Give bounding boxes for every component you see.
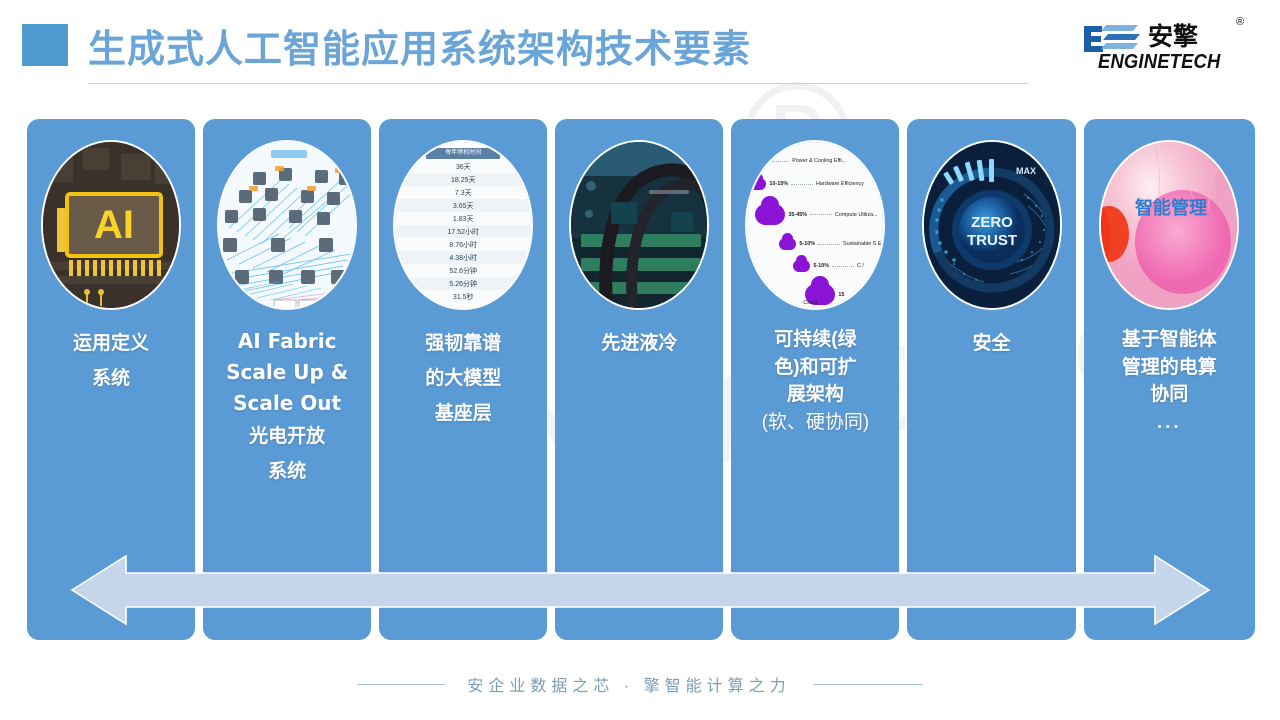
table-row: 7.3天 bbox=[395, 186, 531, 199]
card-operation-definition[interactable]: AI bbox=[27, 119, 195, 640]
ai-chip-label: AI bbox=[94, 203, 134, 247]
card-1-line-2: 系统 bbox=[35, 361, 187, 396]
card-2-line-1: AI Fabric bbox=[211, 326, 363, 357]
chart-item: 5-10% C / bbox=[793, 260, 863, 272]
zero-trust-label-line1: ZERO bbox=[971, 214, 1013, 231]
table-row: 17.52小时 bbox=[395, 225, 531, 238]
liquid-cooling-photo bbox=[569, 140, 709, 310]
logo-registered-icon: ® bbox=[1236, 16, 1244, 28]
card-3-line-1: 强韧靠谱 bbox=[387, 326, 539, 361]
table-row: 36天 bbox=[395, 160, 531, 173]
card-2-line-2: Scale Up & bbox=[211, 357, 363, 388]
chart-item-pct: 10-15% bbox=[769, 181, 788, 187]
footer-rule-left bbox=[357, 684, 445, 685]
card-2-line-5: 系统 bbox=[211, 454, 363, 489]
table-row: 8.76小时 bbox=[395, 238, 531, 251]
cloud-efficiency-chart: 20% Power & Cooling Effi... 10-15% Hardw… bbox=[745, 140, 885, 310]
card-advanced-liquid-cooling[interactable]: 先进液冷 bbox=[555, 119, 723, 640]
card-2-label: AI Fabric Scale Up & Scale Out 光电开放 系统 bbox=[203, 326, 371, 489]
logo-chinese-name: 安擎 bbox=[1148, 17, 1198, 53]
cloud-icon bbox=[793, 260, 810, 272]
logo-english-name: ENGINETECH bbox=[1098, 51, 1220, 74]
card-5-line-2: 色)和可扩 bbox=[739, 354, 891, 382]
cloud-icon bbox=[779, 238, 796, 250]
slide-header: 生成式人工智能应用系统架构技术要素 安擎 ® ENGINETECH bbox=[0, 0, 1280, 100]
card-5-line-3: 展架构 bbox=[739, 381, 891, 409]
card-security[interactable]: ZERO TRUST MAX 安全 bbox=[907, 119, 1075, 640]
card-7-line-4: ... bbox=[1092, 409, 1247, 437]
chart-item-label: Hardware Efficiency bbox=[816, 181, 864, 187]
card-2-line-3: Scale Out bbox=[211, 388, 363, 419]
ai-chip-photo: AI bbox=[41, 140, 181, 310]
leader-line bbox=[818, 244, 840, 245]
chart-item: 20% Power & Cooling Effi... bbox=[753, 158, 846, 164]
card-7-line-1: 基于智能体 bbox=[1092, 326, 1247, 354]
chart-item-label: Compute Utiliza... bbox=[835, 212, 878, 218]
card-5-label: 可持续(绿 色)和可扩 展架构 (软、硬协同) bbox=[731, 326, 899, 436]
chart-item: 10-15% Hardware Efficiency bbox=[749, 178, 863, 190]
card-2-line-4: 光电开放 bbox=[211, 419, 363, 454]
chart-item-pct: 5-10% bbox=[799, 241, 815, 247]
chart-item-pct: 5-10% bbox=[813, 263, 829, 269]
network-fabric-diagram bbox=[217, 140, 357, 310]
ai-chip-illustration: AI bbox=[43, 142, 181, 310]
cloud-icon bbox=[755, 204, 785, 225]
leader-line bbox=[810, 214, 832, 215]
zero-trust-illustration: ZERO TRUST MAX bbox=[924, 142, 1062, 310]
card-sustainable-scalable[interactable]: 20% Power & Cooling Effi... 10-15% Hardw… bbox=[731, 119, 899, 640]
card-6-line-1: 安全 bbox=[915, 326, 1067, 361]
card-intelligent-coordination[interactable]: 智能管理 基于智能体 管理的电算 协同 ... bbox=[1084, 119, 1255, 640]
card-3-label: 强韧靠谱 的大模型 基座层 bbox=[379, 326, 547, 431]
liquid-cooling-illustration bbox=[571, 142, 709, 310]
table-row: 1.83天 bbox=[395, 212, 531, 225]
leader-line bbox=[767, 161, 789, 162]
card-3-line-3: 基座层 bbox=[387, 396, 539, 431]
chart-item-pct: 15 bbox=[838, 292, 844, 298]
card-7-line-3: 协同 bbox=[1092, 381, 1247, 409]
intelligent-management-sphere: 智能管理 bbox=[1099, 140, 1239, 310]
header-divider bbox=[88, 83, 1028, 84]
footer-rule-right bbox=[813, 684, 923, 685]
chart-item-pct: 20% bbox=[753, 158, 764, 164]
chart-item: 5-10% Sustainable S Engineering bbox=[779, 238, 885, 250]
footer-slogan: 安企业数据之芯 · 擎智能计算之力 bbox=[467, 672, 790, 696]
table-row: 52.6分钟 bbox=[395, 264, 531, 277]
leader-line bbox=[791, 184, 813, 185]
chart-item-label: Sustainable S Engineering bbox=[843, 241, 885, 247]
chart-item: 35-45% Compute Utiliza... bbox=[755, 204, 877, 225]
card-5-line-4: (软、硬协同) bbox=[739, 409, 891, 437]
cloud-icon bbox=[749, 178, 766, 190]
table-row: 18.25天 bbox=[395, 173, 531, 186]
slide-footer: 安企业数据之芯 · 擎智能计算之力 bbox=[0, 664, 1280, 704]
company-logo: 安擎 ® ENGINETECH bbox=[1076, 16, 1266, 76]
table-row: 3.65天 bbox=[395, 199, 531, 212]
chart-item-label: Power & Cooling Effi... bbox=[792, 158, 846, 164]
max-label: MAX bbox=[1016, 166, 1036, 176]
slide-root: ® ENGINETECH 生成式人工智能应用系统架构技术要素 安擎 ® ENGI… bbox=[0, 0, 1280, 720]
sphere-caption: 智能管理 bbox=[1135, 197, 1207, 218]
card-7-label: 基于智能体 管理的电算 协同 ... bbox=[1084, 326, 1255, 436]
zero-trust-dial: ZERO TRUST MAX bbox=[922, 140, 1062, 310]
card-4-line-1: 先进液冷 bbox=[563, 326, 715, 361]
card-6-label: 安全 bbox=[907, 326, 1075, 361]
table-row: 5.26分钟 bbox=[395, 277, 531, 290]
downtime-table-body: 每年停机时间 36天 18.25天 7.3天 3.65天 1.83天 17.52… bbox=[395, 142, 531, 308]
card-7-line-2: 管理的电算 bbox=[1092, 354, 1247, 382]
chart-item-label: C / bbox=[857, 263, 864, 269]
card-robust-model-base[interactable]: 每年停机时间 36天 18.25天 7.3天 3.65天 1.83天 17.52… bbox=[379, 119, 547, 640]
page-title: 生成式人工智能应用系统架构技术要素 bbox=[88, 18, 751, 73]
card-1-label: 运用定义 系统 bbox=[27, 326, 195, 396]
zero-trust-label-line2: TRUST bbox=[967, 232, 1017, 249]
downtime-table-header: 每年停机时间 bbox=[426, 148, 500, 159]
chart-item-pct: 35-45% bbox=[788, 212, 807, 218]
header-accent-square bbox=[22, 24, 68, 66]
card-ai-fabric[interactable]: AI Fabric Scale Up & Scale Out 光电开放 系统 bbox=[203, 119, 371, 640]
sphere-illustration: 智能管理 bbox=[1101, 142, 1239, 310]
table-row: 31.5秒 bbox=[395, 290, 531, 303]
card-5-line-1: 可持续(绿 bbox=[739, 326, 891, 354]
table-row: 4.38小时 bbox=[395, 251, 531, 264]
downtime-table: 每年停机时间 36天 18.25天 7.3天 3.65天 1.83天 17.52… bbox=[393, 140, 533, 310]
technology-elements-row: AI bbox=[27, 119, 1255, 640]
card-4-label: 先进液冷 bbox=[555, 326, 723, 361]
chart-item-label: Cloud bbox=[803, 300, 817, 306]
card-3-line-2: 的大模型 bbox=[387, 361, 539, 396]
fabric-topology-illustration bbox=[219, 142, 357, 310]
chart-item: Cloud bbox=[803, 300, 817, 306]
leader-line bbox=[832, 266, 854, 267]
card-1-line-1: 运用定义 bbox=[35, 326, 187, 361]
